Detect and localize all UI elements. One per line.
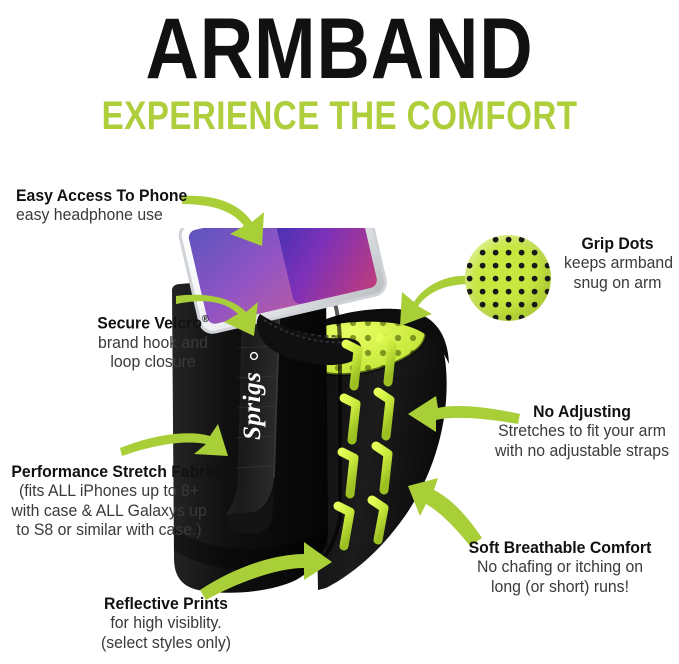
callout-stretch-fabric-line-1: (fits ALL iPhones up to 8+ xyxy=(11,481,206,501)
callout-stretch-fabric: Performance Stretch Fabric (fits ALL iPh… xyxy=(4,462,214,540)
page-subtitle: EXPERIENCE THE COMFORT xyxy=(58,92,622,136)
callout-no-adjusting-line-2: with no adjustable straps xyxy=(494,441,671,461)
grip-dots-swatch xyxy=(465,235,551,321)
callout-easy-access: Easy Access To Phone easy headphone use xyxy=(16,186,200,225)
callout-secure-velcro-line-1: brand hook and xyxy=(65,333,242,353)
callout-grip-dots-title: Grip Dots xyxy=(564,234,671,253)
registered-trademark-icon: ® xyxy=(202,314,209,325)
callout-no-adjusting-title: No Adjusting xyxy=(494,402,671,421)
callout-stretch-fabric-title: Performance Stretch Fabric xyxy=(11,462,206,481)
svg-text:Sprigs: Sprigs xyxy=(239,372,266,440)
grip-dots-pattern xyxy=(465,235,551,321)
callout-secure-velcro-title-text: Secure Velcro xyxy=(97,314,202,333)
callout-reflective-prints: Reflective Prints for high visiblity. (s… xyxy=(86,594,246,652)
callout-secure-velcro-title: Secure Velcro® xyxy=(65,310,242,333)
callout-secure-velcro: Secure Velcro® brand hook and loop closu… xyxy=(58,310,248,372)
callout-soft-comfort-line-1: No chafing or itching on xyxy=(456,557,664,577)
callout-stretch-fabric-line-2: with case & ALL Galaxys up xyxy=(11,501,206,521)
callout-reflective-prints-line-1: for high visiblity. xyxy=(92,613,241,633)
callout-no-adjusting-line-1: Stretches to fit your arm xyxy=(494,421,671,441)
header: ARMBAND EXPERIENCE THE COMFORT xyxy=(0,0,679,136)
infographic-root: ARMBAND EXPERIENCE THE COMFORT xyxy=(0,0,679,664)
callout-grip-dots-line-1: keeps armband xyxy=(564,253,671,273)
callout-no-adjusting: No Adjusting Stretches to fit your arm w… xyxy=(487,402,677,460)
callout-reflective-prints-line-2: (select styles only) xyxy=(92,633,241,653)
callout-grip-dots: Grip Dots keeps armband snug on arm xyxy=(560,234,675,292)
callout-soft-comfort-line-2: long (or short) runs! xyxy=(456,577,664,597)
callout-easy-access-title: Easy Access To Phone xyxy=(16,186,187,205)
callout-reflective-prints-title: Reflective Prints xyxy=(92,594,241,613)
callout-soft-comfort: Soft Breathable Comfort No chafing or it… xyxy=(448,538,672,596)
callout-soft-comfort-title: Soft Breathable Comfort xyxy=(456,538,664,557)
callout-secure-velcro-line-2: loop closure xyxy=(65,352,242,372)
callout-easy-access-line-1: easy headphone use xyxy=(16,205,187,225)
callout-grip-dots-line-2: snug on arm xyxy=(564,273,671,293)
page-title: ARMBAND xyxy=(48,0,632,92)
callout-stretch-fabric-line-3: to S8 or similar with case.) xyxy=(11,520,206,540)
